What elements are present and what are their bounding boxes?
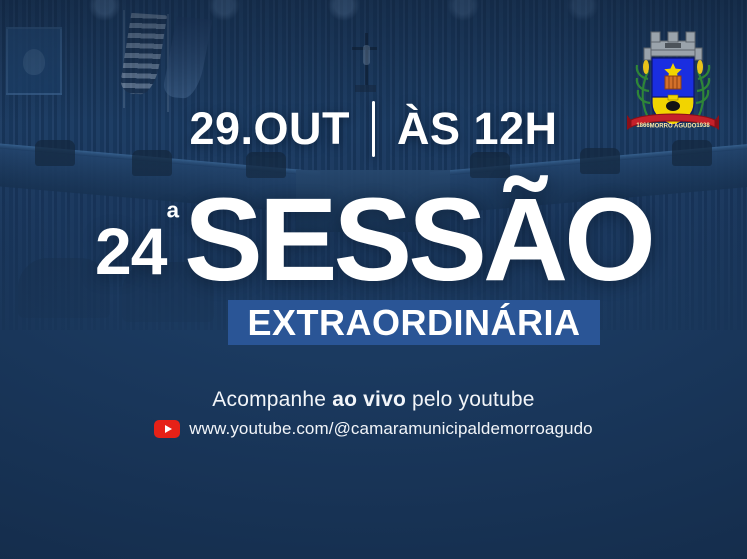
- youtube-icon[interactable]: [154, 420, 180, 438]
- session-announcement-poster: 1866 MORRO AGUDO 1938 29.OUT ÀS 12H 24ª …: [0, 0, 747, 559]
- play-triangle-icon: [165, 425, 172, 433]
- follow-prefix: Acompanhe: [212, 388, 332, 411]
- session-time: ÀS 12H: [397, 103, 558, 155]
- session-type-banner: EXTRAORDINÁRIA: [228, 300, 600, 345]
- title-block: 24ª SESSÃO: [0, 186, 747, 306]
- follow-suffix: pelo youtube: [406, 388, 535, 411]
- title-line: 24ª SESSÃO: [0, 186, 747, 295]
- session-ordinal: 24ª: [95, 213, 178, 289]
- youtube-url[interactable]: www.youtube.com/@camaramunicipaldemorroa…: [189, 419, 592, 439]
- date-time-row: 29.OUT ÀS 12H: [0, 101, 747, 157]
- session-word: SESSÃO: [184, 186, 652, 295]
- session-date: 29.OUT: [189, 103, 350, 155]
- session-ordinal-number: 24: [95, 214, 166, 288]
- follow-emphasis: ao vivo: [332, 388, 406, 411]
- youtube-row[interactable]: www.youtube.com/@camaramunicipaldemorroa…: [0, 419, 747, 439]
- date-time-divider: [372, 101, 375, 157]
- session-ordinal-suffix: ª: [166, 200, 178, 238]
- follow-line: Acompanhe ao vivo pelo youtube: [0, 388, 747, 412]
- session-type-label: EXTRAORDINÁRIA: [228, 302, 600, 344]
